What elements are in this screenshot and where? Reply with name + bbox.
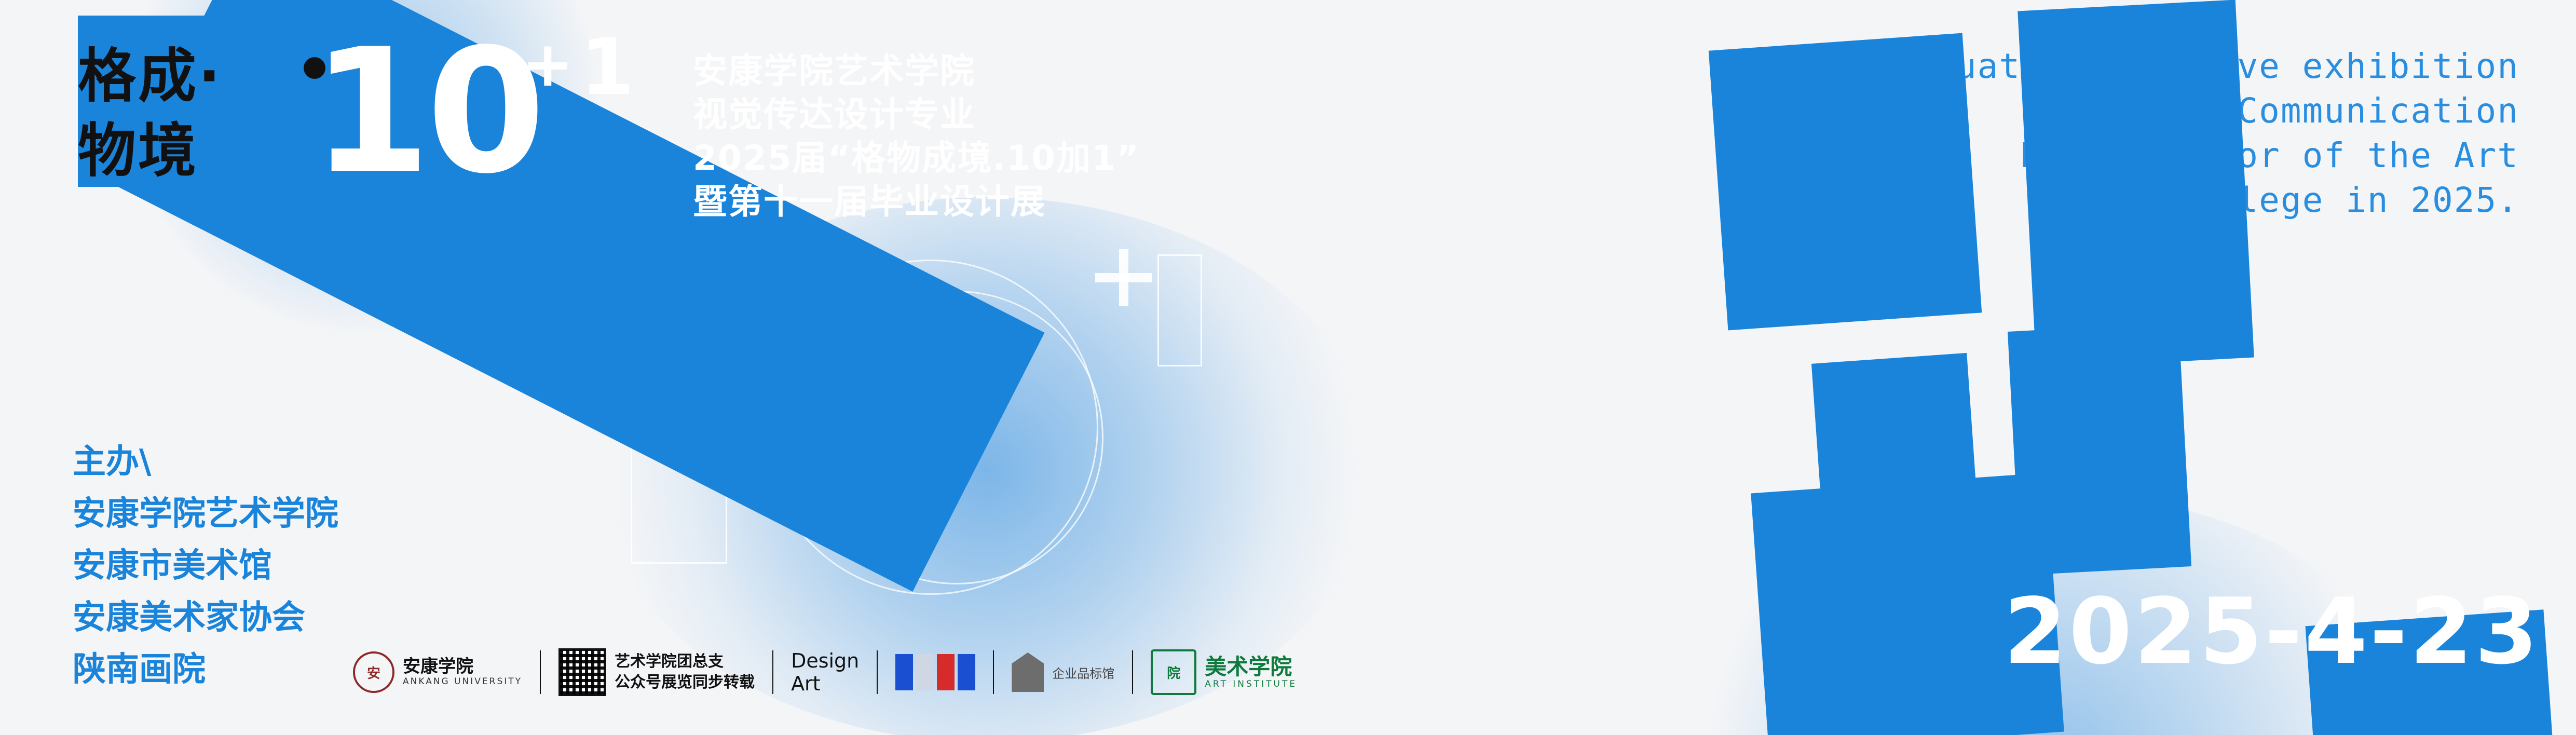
logo-ankang-university: 安 安康学院 ANKANG UNIVERSITY [353,651,522,693]
art-institute-name-cn: 美术学院 [1205,655,1297,679]
ankang-seal-icon: 安 [353,651,394,693]
logo-design-art: Design Art [791,649,859,695]
headline-line-1: 安康学院艺术学院 [693,49,1140,93]
poster-canvas: 格成· 物境 10 + 1 安康学院艺术学院 视觉传达设计专业 2025届“格物… [0,0,2576,735]
logo-cmf: CMF [895,654,975,690]
divider-3 [877,650,878,694]
cmf-bar-blue-2 [958,654,975,690]
ankang-name-cn: 安康学院 [403,657,522,676]
headline-line-4: 暨第十一届毕业设计展 [693,180,1140,224]
enterprise-building-icon [1012,652,1044,692]
organizer-item-3: 安康美术家协会 [73,592,338,644]
wechat-line-2: 公众号展览同步转载 [615,672,755,693]
organizer-item-1: 安康学院艺术学院 [73,488,338,540]
organizer-item-2: 安康市美术馆 [73,540,338,592]
qr-code-icon [558,648,606,696]
blue-rect-1 [1709,33,1982,331]
headline-line-2: 视觉传达设计专业 [693,93,1140,137]
big-plus-sign: + [522,36,574,93]
logo-wechat-account: 艺术学院团总支 公众号展览同步转载 [558,648,755,696]
organizers-label: 主办\ [73,436,338,488]
cmf-bar-gray [916,654,934,690]
plus-outline-icon [1095,249,1152,306]
divider-2 [772,650,773,694]
design-art-line-1: Design [791,649,859,672]
organizer-item-4: 陕南画院 [73,644,338,696]
logo-art-institute: 院 美术学院 ART INSTITUTE [1151,649,1297,695]
headline-block: 安康学院艺术学院 视觉传达设计专业 2025届“格物成境.10加1” 暨第十一届… [693,49,1140,224]
outline-rect-one [1157,254,1202,366]
cmf-bar-blue [895,654,913,690]
ankang-name-en: ANKANG UNIVERSITY [403,676,522,687]
blue-rect-2 [2018,0,2254,369]
big-number-one: 1 [580,29,634,106]
art-institute-seal-icon: 院 [1151,649,1196,695]
big-number-10: 10 [311,26,541,197]
design-art-line-2: Art [791,672,859,695]
art-institute-name-en: ART INSTITUTE [1205,679,1297,689]
divider-5 [1132,650,1133,694]
divider-4 [993,650,994,694]
headline-line-3: 2025届“格物成境.10加1” [693,137,1140,180]
exhibition-date: 2025-4-23 [2003,587,2540,677]
divider-1 [540,650,541,694]
wechat-line-1: 艺术学院团总支 [615,651,755,672]
logotype-line-1: 格成· [78,29,223,113]
logotype-line-2: 物境 [78,104,198,188]
organizers-block: 主办\ 安康学院艺术学院 安康市美术馆 安康美术家协会 陕南画院 [73,436,338,696]
logotype: 格成· 物境 [73,26,343,197]
logo-enterprise-museum: 企业品标馆 [1012,652,1114,692]
cmf-bar-red [937,654,955,690]
enterprise-label: 企业品标馆 [1052,663,1114,682]
footer-logo-strip: 安 安康学院 ANKANG UNIVERSITY 艺术学院团总支 公众号展览同步… [353,638,1297,706]
